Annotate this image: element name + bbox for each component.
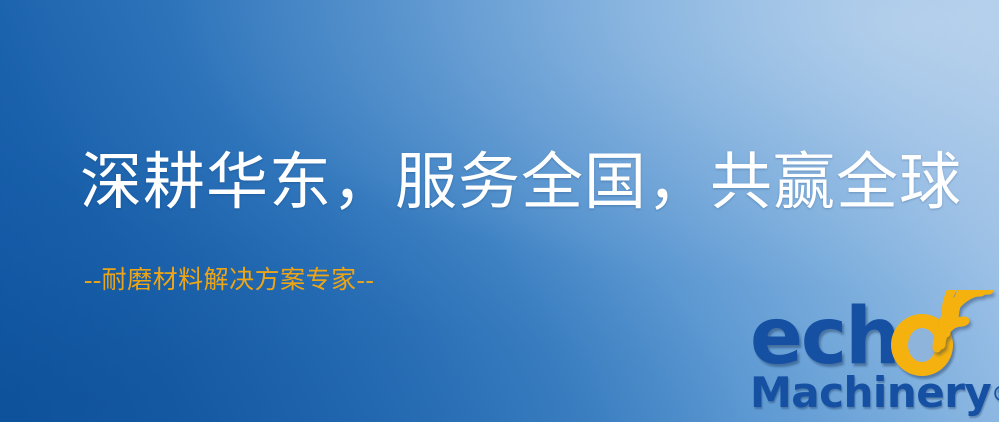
registered-trademark-mark: ® [991, 382, 999, 406]
hero-banner: 深耕华东，服务全国，共赢全球 --耐磨材料解决方案专家-- ech [0, 0, 999, 422]
logo-wordmark-text: ech [750, 298, 899, 376]
logo-tagline: Machinery® [750, 372, 999, 415]
logo-tagline-text: Machinery [750, 368, 991, 417]
page-subtitle: --耐磨材料解决方案专家-- [84, 268, 374, 293]
signal-wave-icon [931, 290, 999, 358]
company-logo[interactable]: ech [746, 296, 999, 422]
page-title: 深耕华东，服务全国，共赢全球 [80, 152, 962, 214]
